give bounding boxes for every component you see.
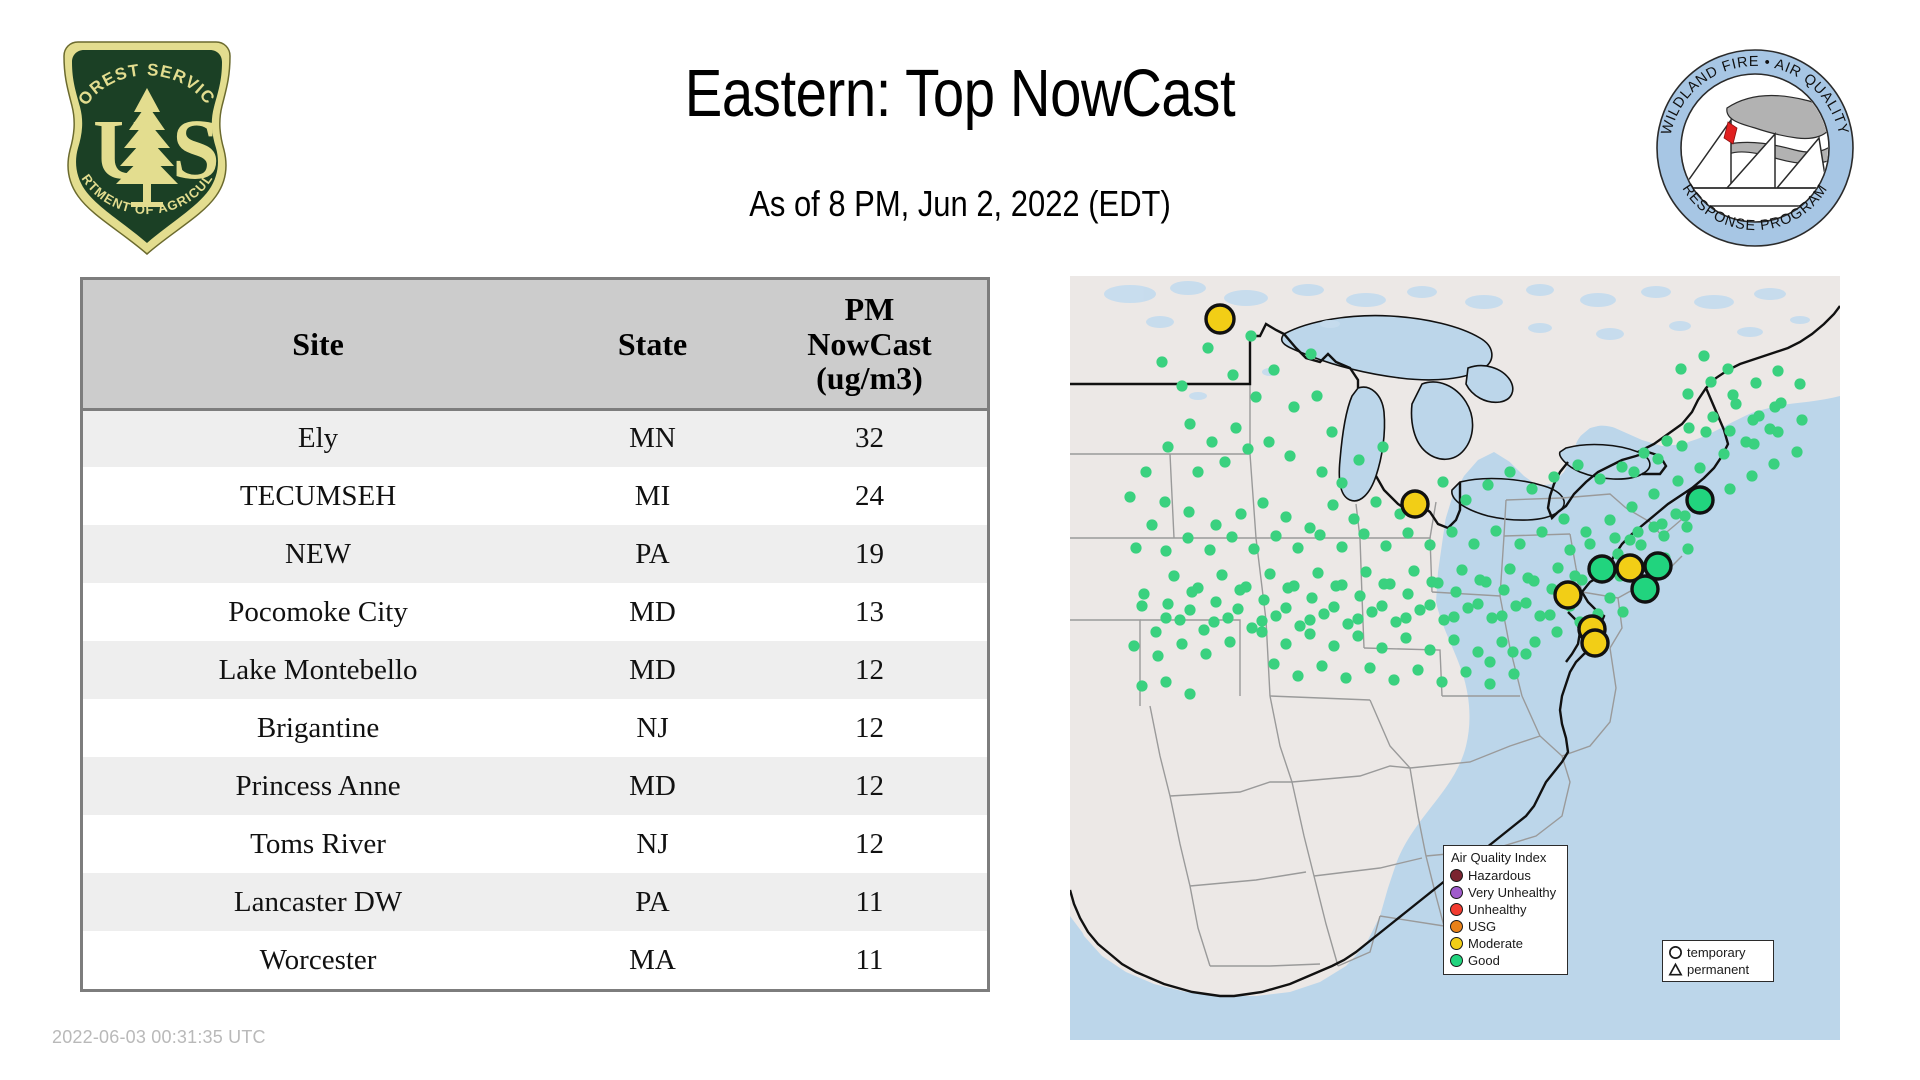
monitor-dot-good <box>1282 582 1293 593</box>
monitor-dot-good <box>1204 544 1215 555</box>
state-cell: MD <box>553 641 752 699</box>
aqi-legend-row: Good <box>1450 952 1561 969</box>
monitor-dot-good <box>1609 532 1620 543</box>
monitor-dot-good <box>1328 601 1339 612</box>
monitor-dot-good <box>1624 534 1635 545</box>
table-row[interactable]: TECUMSEHMI24 <box>83 467 987 525</box>
monitor-dot-good <box>1504 563 1515 574</box>
aqi-legend-row: Hazardous <box>1450 867 1561 884</box>
monitor-dot-good <box>1280 638 1291 649</box>
monitor-dot-good <box>1791 446 1802 457</box>
monitor-dot-good <box>1377 441 1388 452</box>
monitor-dot-good <box>1380 540 1391 551</box>
monitor-dot-good <box>1248 543 1259 554</box>
monitor-dot-good <box>1183 506 1194 517</box>
monitor-dot-good <box>1794 378 1805 389</box>
pm-nowcast-cell: 12 <box>752 815 987 873</box>
monitor-dot-good <box>1200 648 1211 659</box>
monitor-dot-good <box>1424 599 1435 610</box>
monitor-dot-good <box>1340 672 1351 683</box>
aqi-swatch-good <box>1450 954 1463 967</box>
pm-nowcast-cell: 24 <box>752 467 987 525</box>
column-header-state[interactable]: State <box>553 280 752 409</box>
top-site-marker-circle[interactable]: TECUMSEH, MI <box>1402 491 1428 517</box>
monitor-dot-good <box>1769 401 1780 412</box>
monitor-dot-good <box>1446 526 1457 537</box>
monitor-dot-good <box>1682 543 1693 554</box>
aqi-legend-label: USG <box>1468 919 1496 934</box>
monitor-dot-good <box>1504 466 1515 477</box>
table-row[interactable]: Princess AnneMD12 <box>83 757 987 815</box>
pm-nowcast-cell: 11 <box>752 931 987 989</box>
monitor-dot-good <box>1210 596 1221 607</box>
monitor-dot-good <box>1219 456 1230 467</box>
site-type-row-permanent: permanent <box>1668 961 1768 978</box>
monitor-dot-good <box>1263 436 1274 447</box>
aqi-legend-label: Moderate <box>1468 936 1523 951</box>
aqi-swatch-hazardous <box>1450 869 1463 882</box>
monitor-dot-good <box>1246 622 1257 633</box>
site-cell: Princess Anne <box>83 757 553 815</box>
table-body: ElyMN32TECUMSEHMI24NEWPA19Pocomoke CityM… <box>83 409 987 989</box>
site-cell: Lake Montebello <box>83 641 553 699</box>
circle-outline-icon <box>1668 945 1683 960</box>
monitor-dot-good <box>1352 613 1363 624</box>
monitor-dot-good <box>1316 466 1327 477</box>
monitor-dot-good <box>1679 510 1690 521</box>
monitor-dot-good <box>1558 513 1569 524</box>
monitor-dot-good <box>1311 390 1322 401</box>
aqi-legend-label: Very Unhealthy <box>1468 885 1556 900</box>
monitor-dot-good <box>1510 600 1521 611</box>
aqi-swatch-unhealthy <box>1450 903 1463 916</box>
page-title: Eastern: Top NowCast <box>456 58 1464 129</box>
monitor-dot-good <box>1184 688 1195 699</box>
site-cell: Pocomoke City <box>83 583 553 641</box>
top-site-marker-circle[interactable]: Worcester, MA <box>1687 487 1713 513</box>
monitor-dot-good <box>1292 542 1303 553</box>
table-row[interactable]: Lancaster DWPA11 <box>83 873 987 931</box>
monitor-dot-good <box>1635 539 1646 550</box>
monitor-dot-good <box>1683 422 1694 433</box>
monitor-dot-good <box>1326 426 1337 437</box>
monitor-dot-good <box>1450 586 1461 597</box>
monitor-dot-good <box>1264 568 1275 579</box>
monitor-dot-good <box>1176 638 1187 649</box>
monitor-dot-good <box>1544 609 1555 620</box>
monitor-dot-good <box>1230 422 1241 433</box>
monitor-dot-good <box>1594 473 1605 484</box>
monitor-dot-good <box>1280 602 1291 613</box>
monitor-dot-good <box>1364 662 1375 673</box>
monitor-dot-good <box>1747 414 1758 425</box>
monitor-dot-good <box>1536 526 1547 537</box>
monitor-dot-good <box>1514 538 1525 549</box>
table-row[interactable]: ElyMN32 <box>83 409 987 467</box>
aqi-legend-row: Unhealthy <box>1450 901 1561 918</box>
table-row[interactable]: Toms RiverNJ12 <box>83 815 987 873</box>
site-type-label-permanent: permanent <box>1687 962 1749 977</box>
monitor-dot-good <box>1224 636 1235 647</box>
monitor-dot-good <box>1628 466 1639 477</box>
monitor-dot-good <box>1198 624 1209 635</box>
monitor-dot-good <box>1160 676 1171 687</box>
aqi-legend-title: Air Quality Index <box>1450 850 1561 865</box>
monitor-dot-good <box>1353 454 1364 465</box>
monitor-dot-good <box>1306 592 1317 603</box>
nowcast-report-page: FOREST SERVICE U S DEPARTMENT OF AGRICUL… <box>0 0 1920 1080</box>
monitor-dot-good <box>1360 566 1371 577</box>
state-cell: PA <box>553 525 752 583</box>
monitor-dot-good <box>1256 626 1267 637</box>
monitor-dot-good <box>1206 436 1217 447</box>
monitor-dot-good <box>1294 620 1305 631</box>
top-site-marker-circle[interactable]: Lake Montebello, MD <box>1555 582 1581 608</box>
monitor-dot-good <box>1681 521 1692 532</box>
monitor-dot-good <box>1552 562 1563 573</box>
monitor-dot-good <box>1438 614 1449 625</box>
top-site-marker-circle[interactable]: Brigantine, NJ <box>1632 576 1658 602</box>
top-site-marker[interactable]: TECUMSEH, MI <box>1402 491 1428 517</box>
pm-nowcast-cell: 11 <box>752 873 987 931</box>
pm-nowcast-cell: 12 <box>752 757 987 815</box>
monitor-dot-good <box>1724 425 1735 436</box>
monitor-dot-good <box>1250 391 1261 402</box>
monitor-dot-good <box>1604 592 1615 603</box>
monitor-dot-good <box>1314 529 1325 540</box>
state-cell: NJ <box>553 815 752 873</box>
aqi-legend-row: Very Unhealthy <box>1450 884 1561 901</box>
monitor-dot-good <box>1682 388 1693 399</box>
monitor-dot-good <box>1656 518 1667 529</box>
monitor-dot-good <box>1140 466 1151 477</box>
aqi-legend-label: Unhealthy <box>1468 902 1527 917</box>
monitor-dot-good <box>1370 496 1381 507</box>
monitor-dot-good <box>1128 640 1139 651</box>
table-row[interactable]: NEWPA19 <box>83 525 987 583</box>
state-cell: PA <box>553 873 752 931</box>
pm-nowcast-cell: 12 <box>752 699 987 757</box>
state-cell: MD <box>553 757 752 815</box>
site-cell: Brigantine <box>83 699 553 757</box>
monitor-dot-good <box>1520 597 1531 608</box>
monitor-dot-good <box>1304 522 1315 533</box>
monitor-dot-good <box>1366 606 1377 617</box>
column-header-site[interactable]: Site <box>83 280 553 409</box>
pm-nowcast-cell: 12 <box>752 641 987 699</box>
top-site-marker[interactable]: Worcester, MA <box>1687 487 1713 513</box>
monitor-dot-good <box>1292 670 1303 681</box>
monitor-dot-good <box>1604 514 1615 525</box>
table-header: Site State PM NowCast (ug/m3) <box>83 280 987 409</box>
monitor-dot-good <box>1184 418 1195 429</box>
monitor-dot-good <box>1412 664 1423 675</box>
monitor-dot-good <box>1162 598 1173 609</box>
monitor-dot-good <box>1227 369 1238 380</box>
monitor-dot-good <box>1496 610 1507 621</box>
site-type-label-temporary: temporary <box>1687 945 1746 960</box>
aqi-legend: Air Quality Index HazardousVery Unhealth… <box>1443 845 1568 975</box>
table-row[interactable]: Pocomoke CityMD13 <box>83 583 987 641</box>
monitor-dot-good <box>1456 564 1467 575</box>
monitor-dot-good <box>1617 606 1628 617</box>
monitor-dot-good <box>1312 567 1323 578</box>
site-cell: Lancaster DW <box>83 873 553 931</box>
monitor-dot-good <box>1661 435 1672 446</box>
monitor-dot-good <box>1694 462 1705 473</box>
monitor-dot-good <box>1390 616 1401 627</box>
top-site-marker-circle[interactable]: Ely, MN <box>1206 305 1234 333</box>
monitor-dot-good <box>1551 626 1562 637</box>
monitor-dot-good <box>1424 539 1435 550</box>
monitor-dot-good <box>1676 440 1687 451</box>
monitor-dot-good <box>1378 578 1389 589</box>
monitor-dot-good <box>1750 377 1761 388</box>
monitor-dot-good <box>1352 630 1363 641</box>
monitor-dot-good <box>1305 348 1316 359</box>
triangle-outline-icon <box>1668 962 1683 977</box>
monitor-dot-good <box>1707 411 1718 422</box>
monitor-dot-good <box>1462 602 1473 613</box>
monitor-dot-good <box>1202 342 1213 353</box>
monitor-dot-good <box>1490 525 1501 536</box>
monitor-dot-good <box>1448 611 1459 622</box>
site-cell: NEW <box>83 525 553 583</box>
monitor-dot-good <box>1216 569 1227 580</box>
monitor-dot-good <box>1336 477 1347 488</box>
monitor-dot-good <box>1534 610 1545 621</box>
monitor-dot-good <box>1400 632 1411 643</box>
monitor-dot-good <box>1675 363 1686 374</box>
page-subtitle: As of 8 PM, Jun 2, 2022 (EDT) <box>444 183 1476 225</box>
table-row[interactable]: WorcesterMA11 <box>83 931 987 989</box>
monitor-dot-good <box>1304 614 1315 625</box>
table-header-row: Site State PM NowCast (ug/m3) <box>83 280 987 409</box>
monitor-dot-good <box>1152 650 1163 661</box>
top-site-marker-circle[interactable]: Pocomoke City, MD <box>1582 630 1608 656</box>
aqi-swatch-moderate <box>1450 937 1463 950</box>
monitor-dot-good <box>1257 497 1268 508</box>
monitor-dot-good <box>1336 541 1347 552</box>
monitor-dot-good <box>1268 364 1279 375</box>
monitor-dot-good <box>1472 598 1483 609</box>
monitor-dot-good <box>1748 438 1759 449</box>
monitor-dot-good <box>1184 604 1195 615</box>
monitor-dot-good <box>1402 588 1413 599</box>
monitor-dot-good <box>1658 530 1669 541</box>
monitor-dot-good <box>1426 576 1437 587</box>
monitor-dot-good <box>1768 458 1779 469</box>
monitor-dot-good <box>1448 634 1459 645</box>
top-site-marker-circle[interactable]: NEW, PA <box>1589 556 1615 582</box>
monitor-dot-good <box>1705 376 1716 387</box>
monitor-dot-good <box>1648 488 1659 499</box>
monitor-dot-good <box>1226 531 1237 542</box>
monitor-dot-good <box>1270 530 1281 541</box>
monitor-dot-good <box>1376 600 1387 611</box>
monitor-dot-good <box>1460 666 1471 677</box>
site-type-legend: temporary permanent <box>1662 940 1774 982</box>
monitor-dot-good <box>1342 618 1353 629</box>
monitor-dot-good <box>1232 603 1243 614</box>
monitor-dot-good <box>1160 612 1171 623</box>
monitor-dot-good <box>1176 380 1187 391</box>
monitor-dot-good <box>1569 570 1580 581</box>
site-type-row-temporary: temporary <box>1668 944 1768 961</box>
state-cell: MN <box>553 409 752 467</box>
column-header-pm-nowcast[interactable]: PM NowCast (ug/m3) <box>752 280 987 409</box>
site-cell: Worcester <box>83 931 553 989</box>
monitor-dot-good <box>1304 628 1315 639</box>
pm-nowcast-cell: 32 <box>752 409 987 467</box>
monitor-dot-good <box>1316 660 1327 671</box>
monitor-dot-good <box>1638 447 1649 458</box>
monitor-dot-good <box>1280 511 1291 522</box>
table-row[interactable]: BrigantineNJ12 <box>83 699 987 757</box>
monitor-dot-good <box>1182 532 1193 543</box>
aqi-legend-row: Moderate <box>1450 935 1561 952</box>
monitor-dot-good <box>1460 494 1471 505</box>
monitor-dot-good <box>1652 453 1663 464</box>
monitor-dot-good <box>1484 656 1495 667</box>
monitor-dot-good <box>1124 491 1135 502</box>
monitor-dot-good <box>1150 626 1161 637</box>
monitor-dot-good <box>1526 483 1537 494</box>
monitor-dot-good <box>1508 668 1519 679</box>
monitor-dot-good <box>1727 389 1738 400</box>
monitor-dot-good <box>1358 528 1369 539</box>
monitor-dot-good <box>1245 330 1256 341</box>
monitor-dot-good <box>1414 604 1425 615</box>
monitor-dot-good <box>1136 600 1147 611</box>
monitor-dot-good <box>1210 519 1221 530</box>
monitor-dot-good <box>1584 538 1595 549</box>
aqi-legend-label: Hazardous <box>1468 868 1531 883</box>
pm-nowcast-cell: 13 <box>752 583 987 641</box>
monitor-dot-good <box>1186 586 1197 597</box>
aqi-swatch-usg <box>1450 920 1463 933</box>
monitor-dot-good <box>1328 640 1339 651</box>
monitor-dot-good <box>1482 479 1493 490</box>
monitor-dot-good <box>1548 471 1559 482</box>
state-cell: MA <box>553 931 752 989</box>
monitor-dot-good <box>1242 443 1253 454</box>
monitor-dot-good <box>1235 508 1246 519</box>
monitor-dot-good <box>1498 584 1509 595</box>
state-cell: MD <box>553 583 752 641</box>
monitor-dot-good <box>1288 401 1299 412</box>
monitor-dot-good <box>1718 448 1729 459</box>
monitor-dot-good <box>1162 441 1173 452</box>
top-site-marker[interactable]: Lake Montebello, MD <box>1555 582 1581 608</box>
monitor-dot-good <box>1472 646 1483 657</box>
monitor-dot-good <box>1256 615 1267 626</box>
monitor-dot-good <box>1400 612 1411 623</box>
monitor-dot-good <box>1327 499 1338 510</box>
monitor-dot-good <box>1632 526 1643 537</box>
monitor-dot-good <box>1388 674 1399 685</box>
monitor-dot-good <box>1146 519 1157 530</box>
site-cell: Toms River <box>83 815 553 873</box>
monitor-dot-good <box>1136 680 1147 691</box>
monitor-dot-good <box>1580 526 1591 537</box>
monitor-dot-good <box>1437 476 1448 487</box>
monitor-dot-good <box>1258 594 1269 605</box>
generated-timestamp: 2022-06-03 00:31:35 UTC <box>52 1027 266 1048</box>
monitor-dot-good <box>1672 475 1683 486</box>
monitor-dot-good <box>1522 572 1533 583</box>
monitor-dot-good <box>1698 350 1709 361</box>
usda-forest-service-shield-logo: FOREST SERVICE U S DEPARTMENT OF AGRICUL… <box>52 26 242 258</box>
monitor-dot-good <box>1626 501 1637 512</box>
monitor-dot-good <box>1507 646 1518 657</box>
wfaqrp-seal-logo: WILDLAND FIRE • AIR QUALITY RESPONSE PRO… <box>1655 48 1855 248</box>
top-site-marker[interactable]: Pocomoke City, MD <box>1582 630 1608 656</box>
table-row[interactable]: Lake MontebelloMD12 <box>83 641 987 699</box>
pm-nowcast-cell: 19 <box>752 525 987 583</box>
top-nowcast-table: Site State PM NowCast (ug/m3) ElyMN32TEC… <box>83 280 987 989</box>
monitor-dot-good <box>1354 590 1365 601</box>
monitor-dot-good <box>1270 610 1281 621</box>
aqi-legend-label: Good <box>1468 953 1500 968</box>
monitor-dot-good <box>1330 580 1341 591</box>
monitor-dot-good <box>1484 678 1495 689</box>
monitor-dot-good <box>1408 565 1419 576</box>
monitor-dot-good <box>1486 612 1497 623</box>
top-site-marker[interactable]: NEW, PA <box>1589 556 1615 582</box>
aqi-legend-row: USG <box>1450 918 1561 935</box>
monitor-dot-good <box>1616 461 1627 472</box>
monitor-dot-good <box>1234 584 1245 595</box>
monitor-dot-good <box>1222 612 1233 623</box>
monitor-dot-good <box>1376 642 1387 653</box>
monitor-dot-good <box>1268 658 1279 669</box>
monitor-dot-good <box>1130 542 1141 553</box>
monitor-dot-good <box>1529 636 1540 647</box>
monitor-dot-good <box>1746 470 1757 481</box>
monitor-dot-good <box>1156 356 1167 367</box>
state-cell: MI <box>553 467 752 525</box>
monitor-dot-good <box>1160 545 1171 556</box>
monitor-dot-good <box>1284 450 1295 461</box>
monitor-dot-good <box>1174 614 1185 625</box>
monitor-dot-good <box>1318 608 1329 619</box>
aqi-swatch-very-unhealthy <box>1450 886 1463 899</box>
monitor-dot-good <box>1474 574 1485 585</box>
monitor-dot-good <box>1724 483 1735 494</box>
monitor-dot-good <box>1192 466 1203 477</box>
monitor-dot-good <box>1348 513 1359 524</box>
monitor-dot-good <box>1402 527 1413 538</box>
monitor-dot-good <box>1496 636 1507 647</box>
monitor-dot-good <box>1564 544 1575 555</box>
monitor-dot-good <box>1424 644 1435 655</box>
monitor-dot-good <box>1572 459 1583 470</box>
monitor-dot-good <box>1772 365 1783 376</box>
monitor-dot-good <box>1168 570 1179 581</box>
monitor-dot-good <box>1208 616 1219 627</box>
monitor-dot-good <box>1159 496 1170 507</box>
site-cell: TECUMSEH <box>83 467 553 525</box>
monitor-dot-good <box>1138 588 1149 599</box>
state-cell: NJ <box>553 699 752 757</box>
top-site-marker[interactable]: Brigantine, NJ <box>1632 576 1658 602</box>
monitor-dot-good <box>1772 426 1783 437</box>
aqi-legend-rows: HazardousVery UnhealthyUnhealthyUSGModer… <box>1450 867 1561 969</box>
top-site-marker[interactable]: Ely, MN <box>1206 305 1234 333</box>
monitor-dot-good <box>1468 538 1479 549</box>
monitor-dot-good <box>1796 414 1807 425</box>
